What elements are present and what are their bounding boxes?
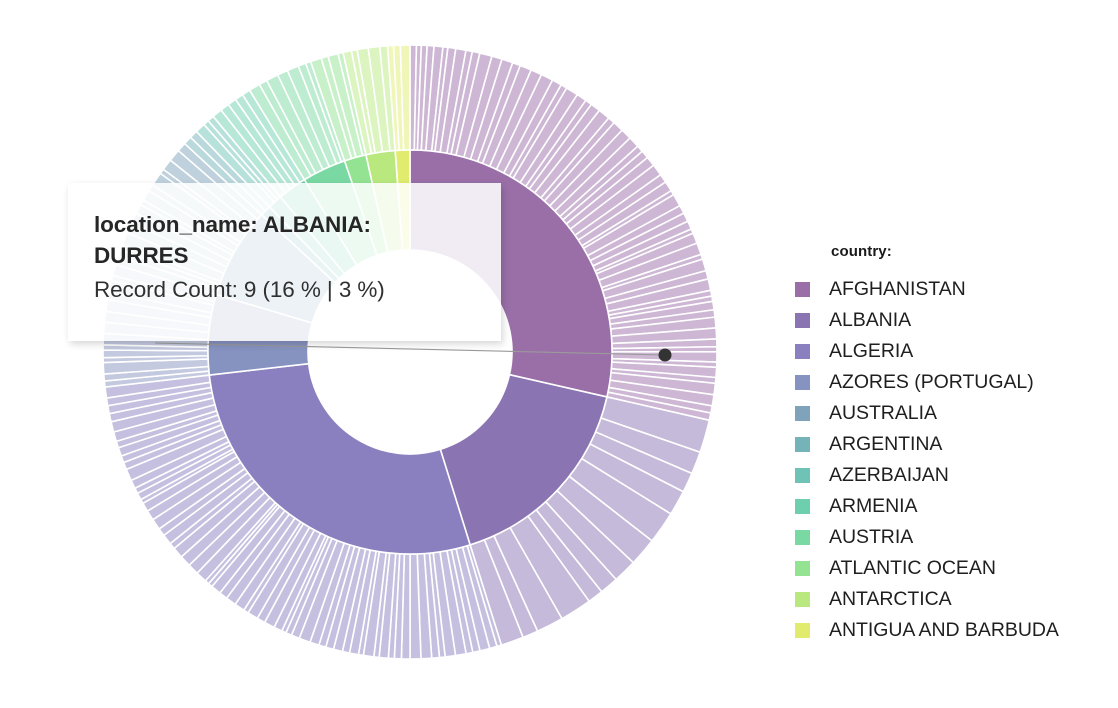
legend-color-swatch <box>795 437 810 452</box>
legend-item-label: AUSTRIA <box>829 526 913 549</box>
legend-color-swatch <box>795 561 810 576</box>
legend-item-label: ATLANTIC OCEAN <box>829 557 996 580</box>
sunburst-svg[interactable] <box>0 0 780 708</box>
legend-color-swatch <box>795 406 810 421</box>
legend-item[interactable]: ATLANTIC OCEAN <box>795 553 1095 584</box>
legend-item[interactable]: ANTARCTICA <box>795 584 1095 615</box>
legend-list[interactable]: AFGHANISTANALBANIAALGERIAAZORES (PORTUGA… <box>795 274 1095 646</box>
legend-item-label: ALGERIA <box>829 340 913 363</box>
legend-item[interactable]: AUSTRIA <box>795 522 1095 553</box>
legend-item[interactable]: ALGERIA <box>795 336 1095 367</box>
legend-color-swatch <box>795 499 810 514</box>
legend-item[interactable]: AFGHANISTAN <box>795 274 1095 305</box>
legend-item[interactable]: AZORES (PORTUGAL) <box>795 367 1095 398</box>
legend-color-swatch <box>795 623 810 638</box>
legend-color-swatch <box>795 344 810 359</box>
legend-item-label: ALBANIA <box>829 309 911 332</box>
legend-item-label: AUSTRALIA <box>829 402 937 425</box>
legend-item-label: AFGHANISTAN <box>829 278 966 301</box>
legend-item-label: ANTIGUA AND BARBUDA <box>829 619 1059 642</box>
legend-item[interactable]: ARMENIA <box>795 491 1095 522</box>
sunburst-chart[interactable] <box>0 0 780 708</box>
legend-item-label: AZERBAIJAN <box>829 464 949 487</box>
legend-item[interactable]: ANTIGUA AND BARBUDA <box>795 615 1095 646</box>
legend-color-swatch <box>795 282 810 297</box>
legend-item[interactable]: ARGENTINA <box>795 429 1095 460</box>
legend-color-swatch <box>795 530 810 545</box>
legend-item-label: ARMENIA <box>829 495 918 518</box>
highlight-point-marker[interactable] <box>659 349 672 362</box>
legend-item[interactable]: AUSTRALIA <box>795 398 1095 429</box>
legend-color-swatch <box>795 375 810 390</box>
legend-item-label: ANTARCTICA <box>829 588 952 611</box>
legend-color-swatch <box>795 468 810 483</box>
legend-item[interactable]: AZERBAIJAN <box>795 460 1095 491</box>
legend-color-swatch <box>795 313 810 328</box>
legend-item[interactable]: ALBANIA <box>795 305 1095 336</box>
legend-item-label: ARGENTINA <box>829 433 942 456</box>
legend-item-label: AZORES (PORTUGAL) <box>829 371 1034 394</box>
legend: country: AFGHANISTANALBANIAALGERIAAZORES… <box>795 243 1095 646</box>
legend-title: country: <box>831 243 1095 260</box>
outer-ring-locations[interactable] <box>103 45 717 659</box>
legend-color-swatch <box>795 592 810 607</box>
